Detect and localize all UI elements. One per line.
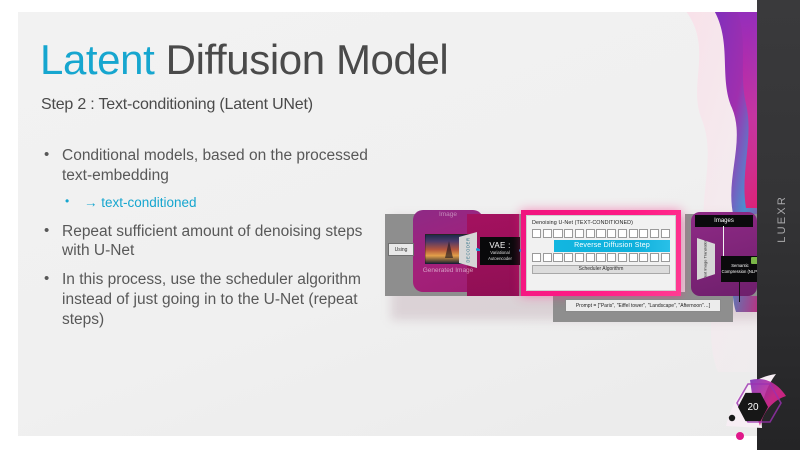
page-title-plain: Diffusion Model (154, 36, 448, 83)
unet-block (618, 253, 627, 262)
unet-block (553, 229, 562, 238)
vae-subtitle: Variational Autoencoder (480, 250, 520, 260)
unet-block (532, 253, 541, 262)
unet-block (661, 229, 670, 238)
unet-block (629, 229, 638, 238)
text-image-translation-trapezoid: Text Image Translation (697, 238, 715, 280)
unet-block (607, 229, 616, 238)
page-subtitle: Step 2 : Text-conditioning (Latent UNet) (41, 96, 313, 114)
diagram-figure: Image Generated Image Using DECODER VAE … (385, 210, 757, 322)
unet-block (639, 229, 648, 238)
unet-block (586, 253, 595, 262)
unet-block (543, 253, 552, 262)
list-item-sub: → text-conditioned (40, 195, 390, 212)
unet-block (532, 229, 541, 238)
unet-block (596, 229, 605, 238)
unet-block (650, 253, 659, 262)
unet-block (596, 253, 605, 262)
generated-image-label: Generated Image (415, 267, 481, 275)
semantic-compression-box: Semantic Compression (NLP) (721, 256, 757, 282)
vae-box: VAE : Variational Autoencoder (480, 237, 520, 265)
page-title-accent: Latent (40, 36, 154, 83)
page-number-badge: 20 (720, 370, 792, 442)
unet-block (575, 253, 584, 262)
slide-root: Latent Diffusion Model Step 2 : Text-con… (0, 0, 800, 450)
list-item: In this process, use the scheduler algor… (40, 270, 390, 329)
prompt-box: Prompt = ["Paris", "Eiffel tower", "Land… (565, 299, 721, 312)
brand-label: LUEXR (776, 195, 788, 243)
connector-prompt-line (739, 282, 740, 302)
unet-block (661, 253, 670, 262)
unet-frame: Denoising U-Net (TEXT-CONDITIONED) (521, 210, 681, 296)
decoder-label: DECODER (466, 237, 471, 262)
unet-title: Denoising U-Net (TEXT-CONDITIONED) (532, 220, 670, 226)
unet-block (639, 253, 648, 262)
decoder-trapezoid: DECODER (459, 232, 477, 268)
connector-elbow (723, 226, 753, 258)
unet-block (543, 229, 552, 238)
page-title: Latent Diffusion Model (40, 36, 448, 84)
semantic-compression-label: Semantic Compression (NLP) (721, 263, 757, 274)
scheduler-algorithm-bar: Scheduler Algorithm (532, 265, 670, 274)
unet-block (575, 229, 584, 238)
unet-block-row-top (532, 229, 670, 238)
unet-block (586, 229, 595, 238)
reverse-diffusion-step-bar: Reverse Diffusion Step (554, 240, 670, 252)
unet-block-row-bottom (532, 253, 670, 262)
using-box: Using (388, 243, 414, 256)
unet-block (607, 253, 616, 262)
vae-title: VAE : (489, 241, 510, 250)
list-item: Repeat sufficient amount of denoising st… (40, 222, 390, 262)
unet-card: Denoising U-Net (TEXT-CONDITIONED) (526, 215, 676, 291)
unet-block (564, 229, 573, 238)
text-image-translation-label: Text Image Translation (704, 239, 709, 279)
unet-block (618, 229, 627, 238)
unet-block (629, 253, 638, 262)
connector-dot-left (476, 248, 479, 251)
list-item: Conditional models, based on the process… (40, 146, 390, 186)
slide-canvas: Latent Diffusion Model Step 2 : Text-con… (18, 12, 757, 436)
image-top-label: Image (419, 211, 477, 218)
unet-block (564, 253, 573, 262)
unet-block (553, 253, 562, 262)
bullet-list: Conditional models, based on the process… (40, 146, 390, 339)
unet-block (650, 229, 659, 238)
